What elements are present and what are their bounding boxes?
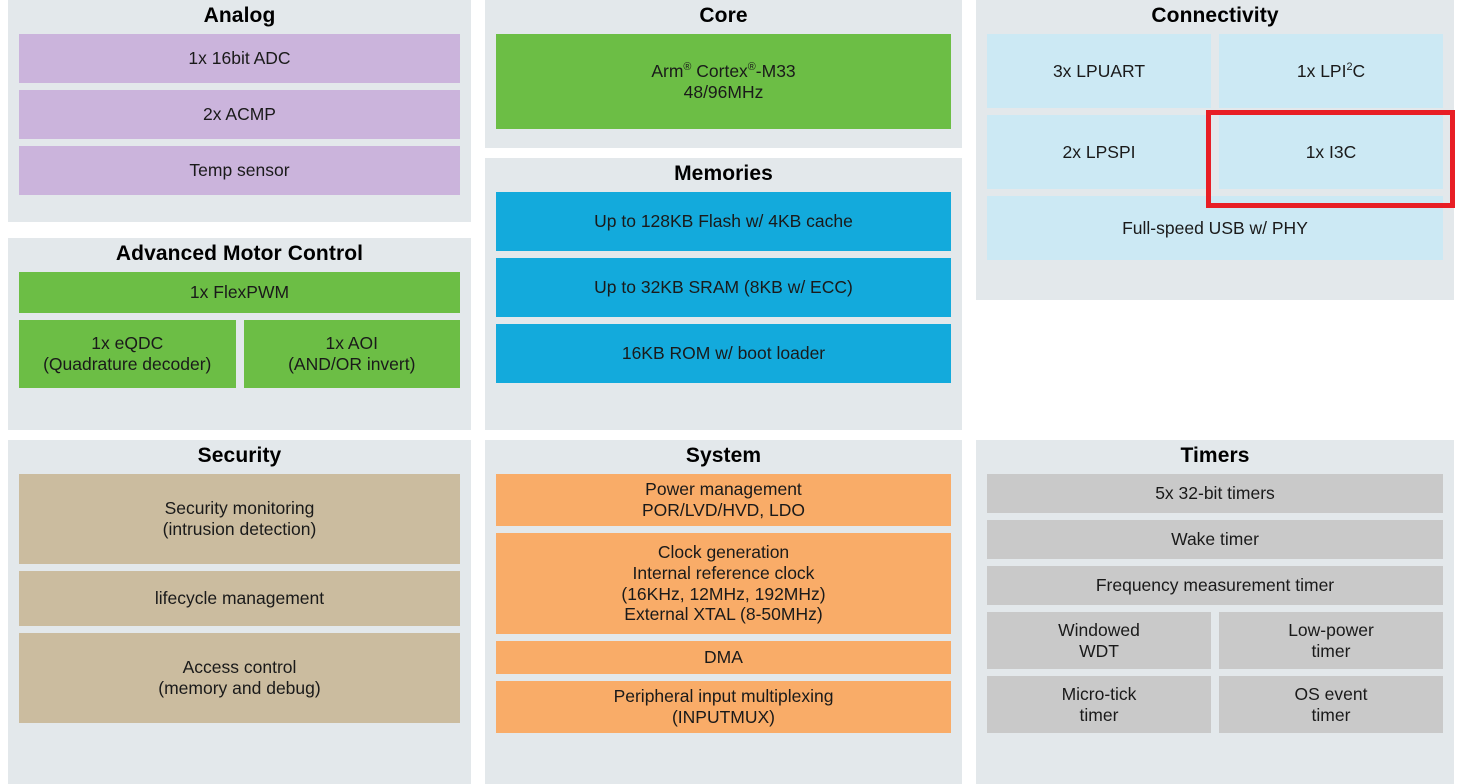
block-flash: Up to 128KB Flash w/ 4KB cache: [496, 192, 951, 251]
panel-advanced-motor-control: Advanced Motor Control 1x FlexPWM 1x eQD…: [8, 238, 471, 430]
panel-core: Core Arm® Cortex®-M33 48/96MHz: [485, 0, 962, 148]
block-low-power-timer: Low-power timer: [1219, 612, 1443, 669]
block-windowed-wdt-line2: WDT: [1058, 641, 1140, 662]
block-lpspi: 2x LPSPI: [987, 115, 1211, 189]
panel-system: System Power management POR/LVD/HVD, LDO…: [485, 440, 962, 784]
panel-memories: Memories Up to 128KB Flash w/ 4KB cache …: [485, 158, 962, 430]
block-lpuart: 3x LPUART: [987, 34, 1211, 108]
block-aoi: 1x AOI (AND/OR invert): [244, 320, 461, 388]
motor-block-row: 1x eQDC (Quadrature decoder) 1x AOI (AND…: [19, 320, 460, 388]
block-32bit-timers: 5x 32-bit timers: [987, 474, 1443, 513]
block-power-management-line2: POR/LVD/HVD, LDO: [642, 500, 805, 521]
connectivity-row-2: 2x LPSPI 1x I3C: [987, 115, 1443, 189]
timers-row-1: Windowed WDT Low-power timer: [987, 612, 1443, 669]
block-eqdc-line2: (Quadrature decoder): [43, 354, 211, 375]
block-usb: Full-speed USB w/ PHY: [987, 196, 1443, 260]
block-windowed-wdt: Windowed WDT: [987, 612, 1211, 669]
block-acmp: 2x ACMP: [19, 90, 460, 139]
block-cortex-m33: Arm® Cortex®-M33 48/96MHz: [496, 34, 951, 129]
block-clock-generation-line4: External XTAL (8-50MHz): [621, 604, 825, 625]
block-clock-generation-line1: Clock generation: [621, 542, 825, 563]
block-temp-sensor: Temp sensor: [19, 146, 460, 195]
block-micro-tick-timer-line1: Micro-tick: [1062, 684, 1137, 705]
block-lifecycle-management: lifecycle management: [19, 571, 460, 626]
panel-title-analog: Analog: [19, 0, 460, 34]
block-micro-tick-timer: Micro-tick timer: [987, 676, 1211, 733]
block-os-event-timer-line1: OS event: [1295, 684, 1368, 705]
block-windowed-wdt-line1: Windowed: [1058, 620, 1140, 641]
block-access-control: Access control (memory and debug): [19, 633, 460, 723]
panel-connectivity: Connectivity 3x LPUART 1x LPI2C 2x LPSPI…: [976, 0, 1454, 300]
block-cortex-m33-line1: Arm® Cortex®-M33: [651, 61, 795, 82]
block-wake-timer: Wake timer: [987, 520, 1443, 559]
block-clock-generation-line2: Internal reference clock: [621, 563, 825, 584]
block-access-control-line2: (memory and debug): [158, 678, 320, 699]
block-rom: 16KB ROM w/ boot loader: [496, 324, 951, 383]
block-adc: 1x 16bit ADC: [19, 34, 460, 83]
block-aoi-line2: (AND/OR invert): [288, 354, 415, 375]
block-i3c: 1x I3C: [1219, 115, 1443, 189]
block-diagram-canvas: Analog 1x 16bit ADC 2x ACMP Temp sensor …: [0, 0, 1461, 784]
block-eqdc: 1x eQDC (Quadrature decoder): [19, 320, 236, 388]
block-security-monitoring-line2: (intrusion detection): [163, 519, 317, 540]
block-security-monitoring: Security monitoring (intrusion detection…: [19, 474, 460, 564]
block-micro-tick-timer-line2: timer: [1062, 705, 1137, 726]
block-inputmux: Peripheral input multiplexing (INPUTMUX): [496, 681, 951, 733]
connectivity-row-1: 3x LPUART 1x LPI2C: [987, 34, 1443, 108]
panel-title-motor: Advanced Motor Control: [19, 238, 460, 272]
block-flexpwm: 1x FlexPWM: [19, 272, 460, 313]
block-os-event-timer: OS event timer: [1219, 676, 1443, 733]
block-power-management-line1: Power management: [642, 479, 805, 500]
block-dma: DMA: [496, 641, 951, 674]
panel-timers: Timers 5x 32-bit timers Wake timer Frequ…: [976, 440, 1454, 784]
panel-title-core: Core: [496, 0, 951, 34]
panel-title-timers: Timers: [987, 440, 1443, 474]
block-cortex-m33-line2: 48/96MHz: [651, 82, 795, 103]
block-security-monitoring-line1: Security monitoring: [163, 498, 317, 519]
block-power-management: Power management POR/LVD/HVD, LDO: [496, 474, 951, 526]
block-low-power-timer-line2: timer: [1288, 641, 1374, 662]
panel-title-memories: Memories: [496, 158, 951, 192]
panel-title-security: Security: [19, 440, 460, 474]
block-eqdc-line1: 1x eQDC: [43, 333, 211, 354]
panel-security: Security Security monitoring (intrusion …: [8, 440, 471, 784]
panel-title-connectivity: Connectivity: [987, 0, 1443, 34]
block-frequency-measurement-timer: Frequency measurement timer: [987, 566, 1443, 605]
block-sram: Up to 32KB SRAM (8KB w/ ECC): [496, 258, 951, 317]
block-aoi-line1: 1x AOI: [288, 333, 415, 354]
block-lpi2c: 1x LPI2C: [1219, 34, 1443, 108]
block-clock-generation-line3: (16KHz, 12MHz, 192MHz): [621, 584, 825, 605]
block-inputmux-line1: Peripheral input multiplexing: [614, 686, 834, 707]
block-clock-generation: Clock generation Internal reference cloc…: [496, 533, 951, 634]
block-os-event-timer-line2: timer: [1295, 705, 1368, 726]
panel-analog: Analog 1x 16bit ADC 2x ACMP Temp sensor: [8, 0, 471, 222]
timers-row-2: Micro-tick timer OS event timer: [987, 676, 1443, 733]
block-access-control-line1: Access control: [158, 657, 320, 678]
block-low-power-timer-line1: Low-power: [1288, 620, 1374, 641]
panel-title-system: System: [496, 440, 951, 474]
block-inputmux-line2: (INPUTMUX): [614, 707, 834, 728]
